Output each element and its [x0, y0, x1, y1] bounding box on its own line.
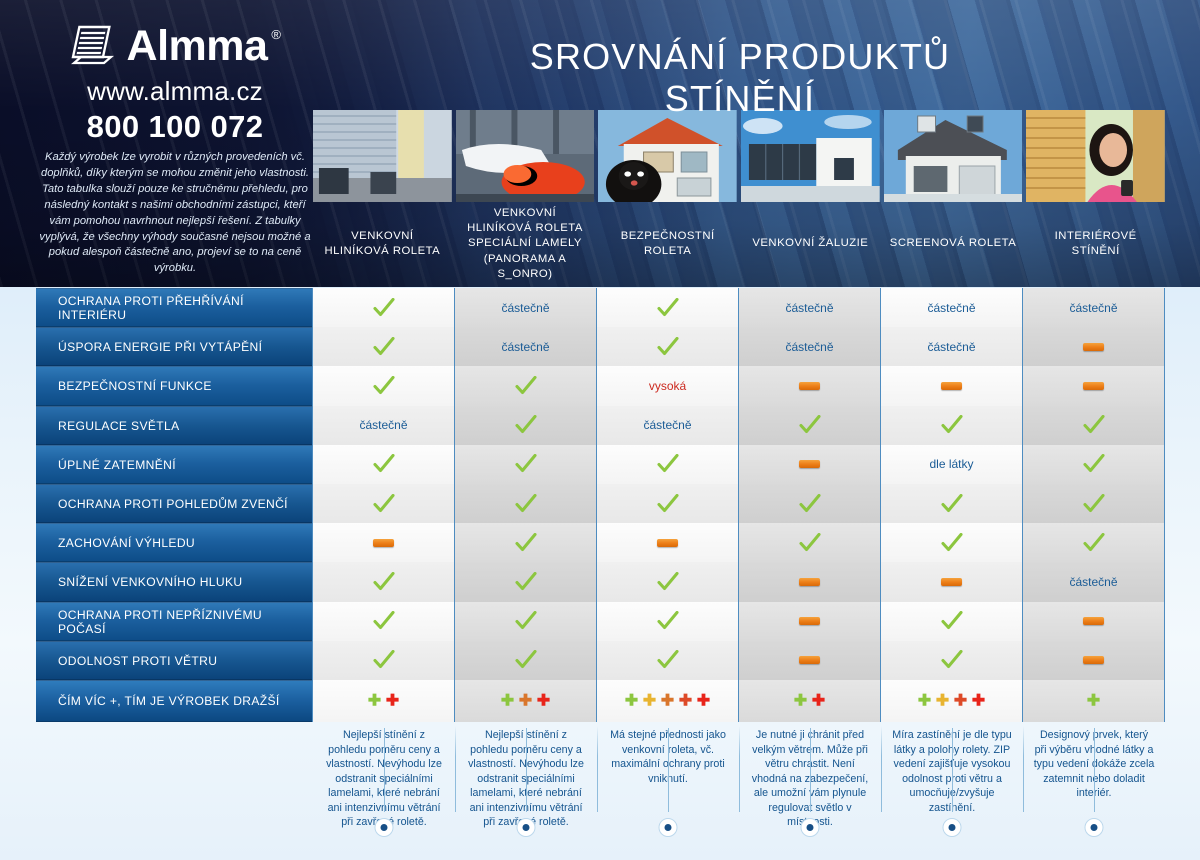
- connector-dot-cell: [1023, 812, 1165, 846]
- check-icon: [515, 415, 537, 435]
- blinds-logo-icon: [70, 24, 118, 68]
- table-cell: [1023, 680, 1165, 722]
- check-icon: [515, 650, 537, 670]
- check-icon: [657, 650, 679, 670]
- table-cell: [1023, 484, 1165, 523]
- cell-text: částečně: [927, 301, 975, 315]
- table-cell: [312, 641, 455, 680]
- check-icon: [373, 298, 395, 318]
- connector-line: [668, 728, 669, 812]
- check-icon: [657, 298, 679, 318]
- connector-dot: [659, 818, 678, 837]
- row-cells: [312, 484, 1165, 523]
- connector-dot: [375, 818, 394, 837]
- dash-icon: [657, 539, 678, 547]
- row-cells: částečněčástečněčástečně: [312, 327, 1165, 366]
- row-cells: částečně: [312, 562, 1165, 601]
- table-cell: [597, 484, 739, 523]
- woman-interior-photo: [1026, 110, 1165, 202]
- table-cell: [312, 288, 455, 327]
- check-icon: [799, 415, 821, 435]
- check-icon: [515, 611, 537, 631]
- row-cells: částečněčástečněčástečněčástečně: [312, 288, 1165, 327]
- cell-text: částečně: [927, 340, 975, 354]
- table-cell: částečně: [881, 288, 1023, 327]
- intro-paragraph: Každý výrobek lze vyrobit v různých prov…: [36, 150, 314, 277]
- check-icon: [941, 650, 963, 670]
- dash-icon: [941, 382, 962, 390]
- table-cell: [881, 406, 1023, 445]
- check-icon: [799, 533, 821, 553]
- website-link[interactable]: www.almma.cz: [44, 76, 306, 107]
- row-cells: [312, 641, 1165, 680]
- connector-dot: [801, 818, 820, 837]
- table-cell: částečně: [455, 327, 597, 366]
- table-cell: [597, 523, 739, 562]
- check-icon: [1083, 533, 1105, 553]
- row-cells: vysoká: [312, 366, 1165, 405]
- photo-strip: [313, 110, 1165, 202]
- row-cells: [312, 680, 1165, 722]
- plus-icon: [935, 693, 950, 708]
- table-cell: [1023, 602, 1165, 641]
- check-icon: [657, 494, 679, 514]
- row-label: ODOLNOST PROTI VĚTRU: [36, 641, 312, 680]
- row-label: OCHRANA PROTI NEPŘÍZNIVÉMU POČASÍ: [36, 602, 312, 641]
- column-header-2: BEZPEČNOSTNÍ ROLETA: [598, 204, 737, 284]
- brand-row: Almma®: [44, 24, 306, 68]
- connector-line: [1094, 728, 1095, 812]
- villa-roof-photo: [884, 110, 1023, 202]
- cell-text: dle látky: [929, 457, 973, 471]
- table-cell: [881, 641, 1023, 680]
- table-cell: částečně: [1023, 288, 1165, 327]
- connector-line: [952, 728, 953, 812]
- check-icon: [657, 454, 679, 474]
- dash-icon: [1083, 382, 1104, 390]
- connector-dot-cell: [455, 812, 597, 846]
- check-icon: [657, 611, 679, 631]
- table-cell: [597, 327, 739, 366]
- check-icon: [373, 454, 395, 474]
- check-icon: [515, 494, 537, 514]
- table-cell: [881, 562, 1023, 601]
- table-cell: [739, 366, 881, 405]
- dash-icon: [799, 656, 820, 664]
- plus-icon: [953, 693, 968, 708]
- row-label: OCHRANA PROTI PŘEHŘÍVÁNÍ INTERIÉRU: [36, 288, 312, 327]
- check-icon: [515, 572, 537, 592]
- plus-icon: [500, 693, 515, 708]
- table-cell: [739, 680, 881, 722]
- phone-number[interactable]: 800 100 072: [44, 109, 306, 145]
- check-icon: [941, 494, 963, 514]
- check-icon: [941, 415, 963, 435]
- dash-icon: [799, 617, 820, 625]
- column-header-4: SCREENOVÁ ROLETA: [884, 204, 1023, 284]
- table-cell: částečně: [881, 327, 1023, 366]
- cell-text: částečně: [785, 340, 833, 354]
- check-icon: [941, 611, 963, 631]
- connector-line: [810, 728, 811, 812]
- table-cell: [455, 641, 597, 680]
- dash-icon: [799, 382, 820, 390]
- row-label: ČÍM VÍC +, TÍM JE VÝROBEK DRAŽŠÍ: [36, 680, 312, 722]
- connector-dot-cell: [313, 812, 455, 846]
- table-cell: [455, 484, 597, 523]
- table-row: OCHRANA PROTI POHLEDŮM ZVENČÍ: [36, 484, 1165, 523]
- column-header-3: VENKOVNÍ ŽALUZIE: [741, 204, 880, 284]
- check-icon: [373, 337, 395, 357]
- connector-dots: [313, 812, 1165, 846]
- check-icon: [515, 454, 537, 474]
- plus-icon: [811, 693, 826, 708]
- table-cell: [1023, 523, 1165, 562]
- table-cell: [1023, 445, 1165, 484]
- table-cell: [312, 562, 455, 601]
- column-headers: VENKOVNÍ HLINÍKOVÁ ROLETA VENKOVNÍ HLINÍ…: [313, 204, 1165, 284]
- dash-icon: [1083, 617, 1104, 625]
- row-cells: dle látky: [312, 445, 1165, 484]
- check-icon: [373, 376, 395, 396]
- row-label: OCHRANA PROTI POHLEDŮM ZVENČÍ: [36, 484, 312, 523]
- check-icon: [1083, 454, 1105, 474]
- dash-icon: [373, 539, 394, 547]
- table-cell: [597, 602, 739, 641]
- plus-icon: [385, 693, 400, 708]
- row-cells: [312, 523, 1165, 562]
- dash-icon: [941, 578, 962, 586]
- table-cell: [739, 445, 881, 484]
- table-row: ZACHOVÁNÍ VÝHLEDU: [36, 523, 1165, 562]
- plus-icon: [536, 693, 551, 708]
- price-plus-group: [624, 693, 711, 708]
- check-icon: [657, 572, 679, 592]
- table-row: ÚPLNÉ ZATEMNĚNÍdle látky: [36, 445, 1165, 484]
- check-icon: [373, 572, 395, 592]
- table-cell: částečně: [739, 288, 881, 327]
- table-row: OCHRANA PROTI PŘEHŘÍVÁNÍ INTERIÉRUčásteč…: [36, 288, 1165, 327]
- table-cell: [312, 680, 455, 722]
- plus-icon: [793, 693, 808, 708]
- table-cell: [1023, 327, 1165, 366]
- column-header-1: VENKOVNÍ HLINÍKOVÁ ROLETA SPECIÁLNÍ LAME…: [456, 204, 595, 284]
- cell-text: částečně: [501, 340, 549, 354]
- table-cell: [881, 680, 1023, 722]
- page-title: SROVNÁNÍ PRODUKTŮ STÍNĚNÍ: [480, 36, 1000, 120]
- comparison-table: OCHRANA PROTI PŘEHŘÍVÁNÍ INTERIÉRUčásteč…: [36, 288, 1165, 722]
- check-icon: [373, 650, 395, 670]
- table-cell: [739, 602, 881, 641]
- price-plus-group: [1086, 693, 1101, 708]
- check-icon: [373, 494, 395, 514]
- check-icon: [941, 533, 963, 553]
- table-cell: [597, 641, 739, 680]
- brand-name: Almma®: [127, 25, 281, 68]
- check-icon: [515, 376, 537, 396]
- cell-text: částečně: [1069, 575, 1117, 589]
- check-icon: [1083, 494, 1105, 514]
- row-label: REGULACE SVĚTLA: [36, 406, 312, 445]
- table-cell: dle látky: [881, 445, 1023, 484]
- table-cell: částečně: [739, 327, 881, 366]
- table-cell: [455, 445, 597, 484]
- table-cell: [312, 327, 455, 366]
- table-cell: [739, 562, 881, 601]
- table-cell: [455, 523, 597, 562]
- connector-dot-cell: [881, 812, 1023, 846]
- comparison-poster: Almma® www.almma.cz 800 100 072 Každý vý…: [0, 0, 1200, 860]
- table-cell: [312, 523, 455, 562]
- plus-icon: [678, 693, 693, 708]
- table-cell: [1023, 641, 1165, 680]
- price-plus-group: [793, 693, 826, 708]
- dash-icon: [799, 578, 820, 586]
- connector-dot-cell: [739, 812, 881, 846]
- row-label: ÚSPORA ENERGIE PŘI VYTÁPĚNÍ: [36, 327, 312, 366]
- table-cell: vysoká: [597, 366, 739, 405]
- connector-line: [384, 728, 385, 812]
- connector-dot: [517, 818, 536, 837]
- cell-text: částečně: [643, 418, 691, 432]
- connector-dot: [943, 818, 962, 837]
- plus-icon: [1086, 693, 1101, 708]
- table-cell: [312, 484, 455, 523]
- table-row: ČÍM VÍC +, TÍM JE VÝROBEK DRAŽŠÍ: [36, 680, 1165, 722]
- table-row: ÚSPORA ENERGIE PŘI VYTÁPĚNÍčástečněčáste…: [36, 327, 1165, 366]
- check-icon: [799, 494, 821, 514]
- table-cell: [312, 366, 455, 405]
- cell-text: částečně: [785, 301, 833, 315]
- table-row: OCHRANA PROTI NEPŘÍZNIVÉMU POČASÍ: [36, 602, 1165, 641]
- plus-icon: [917, 693, 932, 708]
- dash-icon: [1083, 656, 1104, 664]
- price-plus-group: [500, 693, 551, 708]
- plus-icon: [367, 693, 382, 708]
- table-cell: [597, 680, 739, 722]
- cell-text: částečně: [359, 418, 407, 432]
- brand-block: Almma® www.almma.cz 800 100 072: [44, 24, 306, 145]
- table-cell: [881, 366, 1023, 405]
- bathtub-petals-photo: [456, 110, 595, 202]
- table-cell: [312, 602, 455, 641]
- table-cell: [1023, 406, 1165, 445]
- table-row: ODOLNOST PROTI VĚTRU: [36, 641, 1165, 680]
- table-cell: [597, 445, 739, 484]
- row-label: ÚPLNÉ ZATEMNĚNÍ: [36, 445, 312, 484]
- check-icon: [373, 611, 395, 631]
- dash-icon: [799, 460, 820, 468]
- plus-icon: [624, 693, 639, 708]
- cell-text: vysoká: [649, 379, 686, 393]
- plus-icon: [642, 693, 657, 708]
- table-cell: částečně: [597, 406, 739, 445]
- connector-dot-cell: [597, 812, 739, 846]
- plus-icon: [696, 693, 711, 708]
- row-label: ZACHOVÁNÍ VÝHLEDU: [36, 523, 312, 562]
- table-cell: [455, 680, 597, 722]
- table-cell: [597, 288, 739, 327]
- plus-icon: [518, 693, 533, 708]
- table-cell: [881, 602, 1023, 641]
- table-cell: částečně: [455, 288, 597, 327]
- price-plus-group: [367, 693, 400, 708]
- table-row: SNÍŽENÍ VENKOVNÍHO HLUKUčástečně: [36, 562, 1165, 601]
- row-label: BEZPEČNOSTNÍ FUNKCE: [36, 366, 312, 405]
- office-blinds-photo: [313, 110, 452, 202]
- table-cell: [312, 445, 455, 484]
- table-cell: [739, 523, 881, 562]
- table-cell: [597, 562, 739, 601]
- burglar-house-photo: [598, 110, 737, 202]
- table-cell: částečně: [1023, 562, 1165, 601]
- table-cell: [739, 484, 881, 523]
- plus-icon: [660, 693, 675, 708]
- check-icon: [1083, 415, 1105, 435]
- table-cell: částečně: [312, 406, 455, 445]
- cell-text: částečně: [1069, 301, 1117, 315]
- modern-house-photo: [741, 110, 880, 202]
- table-cell: [455, 406, 597, 445]
- table-cell: [881, 523, 1023, 562]
- table-cell: [1023, 366, 1165, 405]
- table-cell: [739, 641, 881, 680]
- dash-icon: [1083, 343, 1104, 351]
- table-row: REGULACE SVĚTLAčástečněčástečně: [36, 406, 1165, 445]
- table-cell: [455, 366, 597, 405]
- row-label: SNÍŽENÍ VENKOVNÍHO HLUKU: [36, 562, 312, 601]
- brand-name-text: Almma: [127, 22, 268, 70]
- row-cells: částečněčástečně: [312, 406, 1165, 445]
- cell-text: částečně: [501, 301, 549, 315]
- check-icon: [515, 533, 537, 553]
- price-plus-group: [917, 693, 986, 708]
- row-cells: [312, 602, 1165, 641]
- check-icon: [657, 337, 679, 357]
- registered-mark: ®: [271, 28, 280, 41]
- table-row: BEZPEČNOSTNÍ FUNKCEvysoká: [36, 366, 1165, 405]
- connector-line: [526, 728, 527, 812]
- table-cell: [455, 562, 597, 601]
- connector-dot: [1085, 818, 1104, 837]
- table-cell: [455, 602, 597, 641]
- table-cell: [739, 406, 881, 445]
- column-header-5: INTERIÉROVÉ STÍNĚNÍ: [1026, 204, 1165, 284]
- column-header-0: VENKOVNÍ HLINÍKOVÁ ROLETA: [313, 204, 452, 284]
- plus-icon: [971, 693, 986, 708]
- table-cell: [881, 484, 1023, 523]
